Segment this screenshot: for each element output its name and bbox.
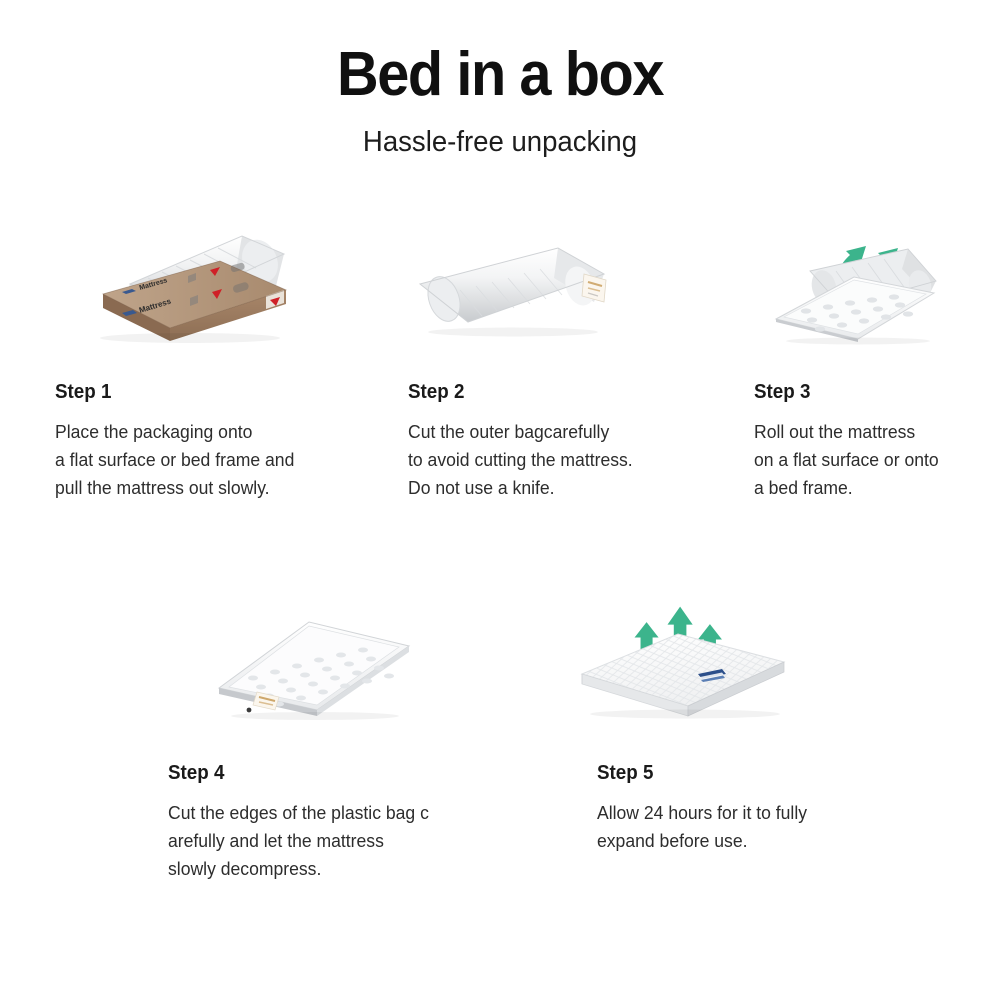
step-body-2-line-3: Do not use a knife. <box>408 474 633 502</box>
expanded-mattress-shape <box>582 634 784 716</box>
step-label-5: Step 5 <box>597 763 805 783</box>
step-body-1-line-2: a flat surface or bed frame and <box>55 446 294 474</box>
page-subtitle: Hassle-free unpacking <box>25 128 975 157</box>
step-text-1: Step 1 Place the packaging onto a flat s… <box>55 382 307 502</box>
step-body-4-line-2: arefully and let the mattress <box>168 827 429 855</box>
illustration-carton-box-with-wrapped-roll: Mattress Mattress <box>70 228 295 343</box>
illustration-mattress-unrolling-with-curved-arrows <box>758 215 963 343</box>
page-title: Bed in a box <box>35 44 965 106</box>
step-body-3-line-3: a bed frame. <box>754 474 939 502</box>
step-body-5-line-1: Allow 24 hours for it to fully <box>597 799 807 827</box>
step-label-4: Step 4 <box>168 763 426 783</box>
step-text-4: Step 4 Cut the edges of the plastic bag … <box>168 763 443 883</box>
step-body-3-line-2: on a flat surface or onto <box>754 446 939 474</box>
step-body-3-line-1: Roll out the mattress <box>754 418 939 446</box>
step-body-1-line-3: pull the mattress out slowly. <box>55 474 294 502</box>
step-text-5: Step 5 Allow 24 hours for it to fully ex… <box>597 763 818 855</box>
step-label-3: Step 3 <box>754 382 937 402</box>
step-body-2-line-2: to avoid cutting the mattress. <box>408 446 633 474</box>
illustration-plastic-wrapped-mattress-roll <box>408 240 618 340</box>
illustration-expanded-mattress-with-up-arrows <box>570 590 795 720</box>
compressed-mattress-shape <box>219 622 409 716</box>
mattress-roll-shape <box>420 248 606 326</box>
step-body-4-line-1: Cut the edges of the plastic bag c <box>168 799 429 827</box>
step-label-1: Step 1 <box>55 382 292 402</box>
step-body-1-line-1: Place the packaging onto <box>55 418 294 446</box>
illustration-flat-compressed-mattress-in-plastic <box>205 600 420 720</box>
step-text-3: Step 3 Roll out the mattress on a flat s… <box>754 382 948 502</box>
step-label-2: Step 2 <box>408 382 630 402</box>
step-text-2: Step 2 Cut the outer bagcarefully to avo… <box>408 382 645 502</box>
step-body-2-line-1: Cut the outer bagcarefully <box>408 418 633 446</box>
page-header: Bed in a box Hassle-free unpacking <box>0 44 1000 157</box>
step-body-4-line-3: slowly decompress. <box>168 855 429 883</box>
step-body-5-line-2: expand before use. <box>597 827 807 855</box>
